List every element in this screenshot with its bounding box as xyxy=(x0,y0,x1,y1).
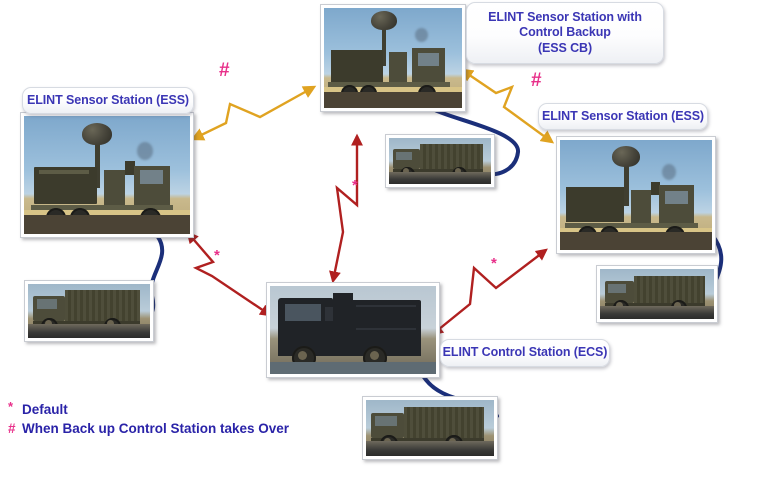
link-ess-left-to-esscb xyxy=(193,87,314,139)
label-ess-cb-line-1: ELINT Sensor Station with xyxy=(488,10,642,26)
diagram-canvas: ELINT Sensor Station (ESS) ELINT Sensor … xyxy=(0,0,768,480)
legend-row-backup: # When Back up Control Station takes Ove… xyxy=(8,419,289,438)
label-ess-cb-line-2: Control Backup xyxy=(519,25,611,41)
mark-hash-right: # xyxy=(531,71,542,90)
photo-van-bottom xyxy=(362,396,498,460)
photo-ess-cb-top xyxy=(320,4,466,112)
mark-hash-left: # xyxy=(219,61,230,80)
link-ess-left-to-ecs xyxy=(188,233,270,315)
photo-van-top xyxy=(385,134,495,188)
legend-label-backup: When Back up Control Station takes Over xyxy=(22,419,289,438)
mark-star-right: * xyxy=(491,256,497,271)
label-ess-cb-top[interactable]: ELINT Sensor Station with Control Backup… xyxy=(466,2,664,64)
label-ecs-center[interactable]: ELINT Control Station (ECS) xyxy=(440,339,610,367)
photo-ess-left xyxy=(20,112,194,238)
legend-row-default: * Default xyxy=(8,400,289,419)
mark-star-center: * xyxy=(352,178,358,193)
photo-van-left xyxy=(24,280,154,342)
legend: * Default # When Back up Control Station… xyxy=(8,400,289,438)
label-ess-left[interactable]: ELINT Sensor Station (ESS) xyxy=(22,87,194,114)
legend-label-default: Default xyxy=(22,400,68,419)
photo-ess-right xyxy=(556,136,716,254)
legend-star-icon: * xyxy=(8,400,22,414)
legend-hash-icon: # xyxy=(8,419,22,438)
photo-ecs-center xyxy=(266,282,440,378)
label-ess-cb-line-3: (ESS CB) xyxy=(538,41,592,57)
link-ess-right-to-ecs xyxy=(433,250,546,334)
label-ess-right[interactable]: ELINT Sensor Station (ESS) xyxy=(538,103,708,130)
mark-star-left: * xyxy=(214,248,220,263)
link-esscb-to-ecs xyxy=(333,136,357,281)
photo-van-right xyxy=(596,265,718,323)
